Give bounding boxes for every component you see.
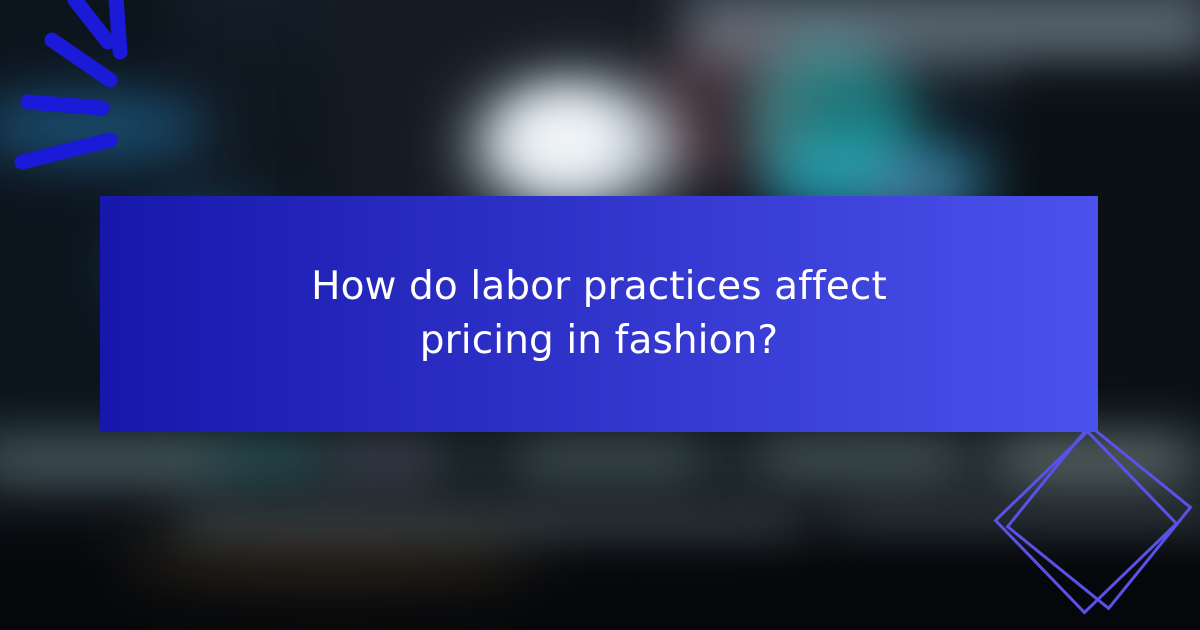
bg-glow-white-center-core (505, 95, 625, 185)
bg-desk-light-4 (520, 444, 700, 472)
headline-banner: How do labor practices affect pricing in… (100, 196, 1098, 432)
starburst-ray-4 (28, 102, 102, 108)
page-title: How do labor practices affect pricing in… (239, 260, 959, 368)
diamond-shape-1 (996, 432, 1177, 613)
bg-warm-glow-bottom (120, 530, 540, 590)
starburst-ray-2 (116, 0, 120, 52)
bg-desk-light-3 (330, 446, 440, 474)
diamond-shape-2 (1008, 426, 1191, 609)
bg-desk-light-2 (200, 444, 320, 474)
starburst-ray-5 (22, 140, 110, 162)
bg-glow-topbar (690, 6, 1200, 50)
bg-desk-light-5 (760, 442, 960, 472)
starburst-icon (0, 0, 210, 220)
starburst-ray-3 (52, 40, 110, 80)
starburst-ray-1 (75, 0, 108, 42)
social-share-card: How do labor practices affect pricing in… (0, 0, 1200, 630)
bg-desk-light-1 (0, 444, 210, 478)
